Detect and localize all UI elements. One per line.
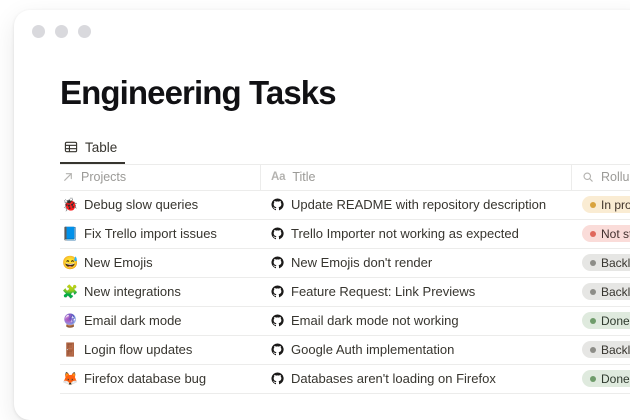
table-icon — [64, 140, 78, 154]
project-emoji-icon: 🚪 — [62, 343, 77, 356]
cell-projects: 😅New Emojis — [60, 249, 260, 277]
column-header-title[interactable]: Aa Title — [260, 165, 571, 190]
cell-rollup: Done — [571, 365, 630, 393]
github-icon — [271, 285, 284, 298]
cell-title: Update README with repository descriptio… — [260, 191, 571, 219]
table-row: 🐞Debug slow queriesUpdate README with re… — [60, 191, 630, 220]
search-icon — [582, 171, 594, 183]
project-emoji-icon: 🐞 — [62, 198, 77, 211]
status-badge[interactable]: Done — [582, 312, 630, 329]
project-link[interactable]: New integrations — [84, 284, 181, 299]
page-title: Engineering Tasks — [60, 74, 630, 112]
arrow-up-right-icon — [62, 171, 74, 183]
status-badge[interactable]: Done — [582, 370, 630, 387]
task-title-link[interactable]: Feature Request: Link Previews — [291, 284, 475, 299]
task-title-link[interactable]: Google Auth implementation — [291, 342, 454, 357]
cell-rollup: Backlog — [571, 336, 630, 364]
tab-label: Table — [85, 140, 117, 155]
status-badge[interactable]: Backlog — [582, 341, 630, 358]
cell-rollup: Backlog — [571, 249, 630, 277]
task-title-link[interactable]: Email dark mode not working — [291, 313, 459, 328]
window-titlebar — [14, 10, 630, 52]
status-badge[interactable]: Not started — [582, 225, 630, 242]
cell-title: New Emojis don't render — [260, 249, 571, 277]
view-tabbar: Table — [60, 138, 630, 164]
github-icon — [271, 256, 284, 269]
status-dot-icon — [590, 260, 596, 266]
status-label: Done — [601, 315, 630, 327]
minimize-dot[interactable] — [55, 25, 68, 38]
github-icon — [271, 198, 284, 211]
status-dot-icon — [590, 376, 596, 382]
project-link[interactable]: New Emojis — [84, 255, 153, 270]
github-icon — [271, 372, 284, 385]
column-header-projects[interactable]: Projects — [60, 165, 260, 190]
task-title-link[interactable]: New Emojis don't render — [291, 255, 432, 270]
cell-title: Databases aren't loading on Firefox — [260, 365, 571, 393]
cell-projects: 🧩New integrations — [60, 278, 260, 306]
status-label: Not started — [601, 228, 630, 240]
tasks-table: Projects Aa Title Rollup � — [60, 164, 630, 394]
status-dot-icon — [590, 202, 596, 208]
project-emoji-icon: 🦊 — [62, 372, 77, 385]
table-row: 📘Fix Trello import issuesTrello Importer… — [60, 220, 630, 249]
status-label: Done — [601, 373, 630, 385]
close-dot[interactable] — [32, 25, 45, 38]
project-emoji-icon: 🧩 — [62, 285, 77, 298]
status-badge[interactable]: Backlog — [582, 283, 630, 300]
status-dot-icon — [590, 289, 596, 295]
project-emoji-icon: 😅 — [62, 256, 77, 269]
project-emoji-icon: 🔮 — [62, 314, 77, 327]
column-header-rollup[interactable]: Rollup — [571, 165, 630, 190]
status-dot-icon — [590, 347, 596, 353]
cell-projects: 🦊Firefox database bug — [60, 365, 260, 393]
cell-rollup: Done — [571, 307, 630, 335]
project-link[interactable]: Firefox database bug — [84, 371, 206, 386]
github-icon — [271, 314, 284, 327]
cell-title: Google Auth implementation — [260, 336, 571, 364]
task-title-link[interactable]: Update README with repository descriptio… — [291, 197, 546, 212]
cell-projects: 🔮Email dark mode — [60, 307, 260, 335]
cell-title: Feature Request: Link Previews — [260, 278, 571, 306]
status-label: Backlog — [601, 344, 630, 356]
table-row: 😅New EmojisNew Emojis don't renderBacklo… — [60, 249, 630, 278]
column-header-label: Projects — [81, 170, 126, 184]
status-label: Backlog — [601, 286, 630, 298]
cell-projects: 📘Fix Trello import issues — [60, 220, 260, 248]
github-icon — [271, 343, 284, 356]
project-link[interactable]: Login flow updates — [84, 342, 192, 357]
status-label: Backlog — [601, 257, 630, 269]
tab-table[interactable]: Table — [60, 138, 125, 164]
page-body: Engineering Tasks Table — [14, 74, 630, 394]
status-dot-icon — [590, 318, 596, 324]
project-link[interactable]: Debug slow queries — [84, 197, 198, 212]
task-title-link[interactable]: Databases aren't loading on Firefox — [291, 371, 496, 386]
table-body: 🐞Debug slow queriesUpdate README with re… — [60, 191, 630, 394]
aa-text-icon: Aa — [271, 171, 285, 183]
table-row: 🦊Firefox database bugDatabases aren't lo… — [60, 365, 630, 394]
cell-rollup: Backlog — [571, 278, 630, 306]
table-header-row: Projects Aa Title Rollup — [60, 165, 630, 191]
project-link[interactable]: Email dark mode — [84, 313, 182, 328]
status-dot-icon — [590, 231, 596, 237]
status-badge[interactable]: Backlog — [582, 254, 630, 271]
cell-rollup: Not started — [571, 220, 630, 248]
project-link[interactable]: Fix Trello import issues — [84, 226, 217, 241]
status-label: In progress — [601, 199, 630, 211]
maximize-dot[interactable] — [78, 25, 91, 38]
cell-rollup: In progress — [571, 191, 630, 219]
column-header-label: Title — [292, 170, 315, 184]
cell-projects: 🐞Debug slow queries — [60, 191, 260, 219]
cell-projects: 🚪Login flow updates — [60, 336, 260, 364]
cell-title: Email dark mode not working — [260, 307, 571, 335]
table-row: 🚪Login flow updatesGoogle Auth implement… — [60, 336, 630, 365]
table-row: 🔮Email dark modeEmail dark mode not work… — [60, 307, 630, 336]
task-title-link[interactable]: Trello Importer not working as expected — [291, 226, 519, 241]
table-row: 🧩New integrationsFeature Request: Link P… — [60, 278, 630, 307]
github-icon — [271, 227, 284, 240]
app-window: Engineering Tasks Table — [14, 10, 630, 420]
project-emoji-icon: 📘 — [62, 227, 77, 240]
column-header-label: Rollup — [601, 170, 630, 184]
cell-title: Trello Importer not working as expected — [260, 220, 571, 248]
status-badge[interactable]: In progress — [582, 196, 630, 213]
